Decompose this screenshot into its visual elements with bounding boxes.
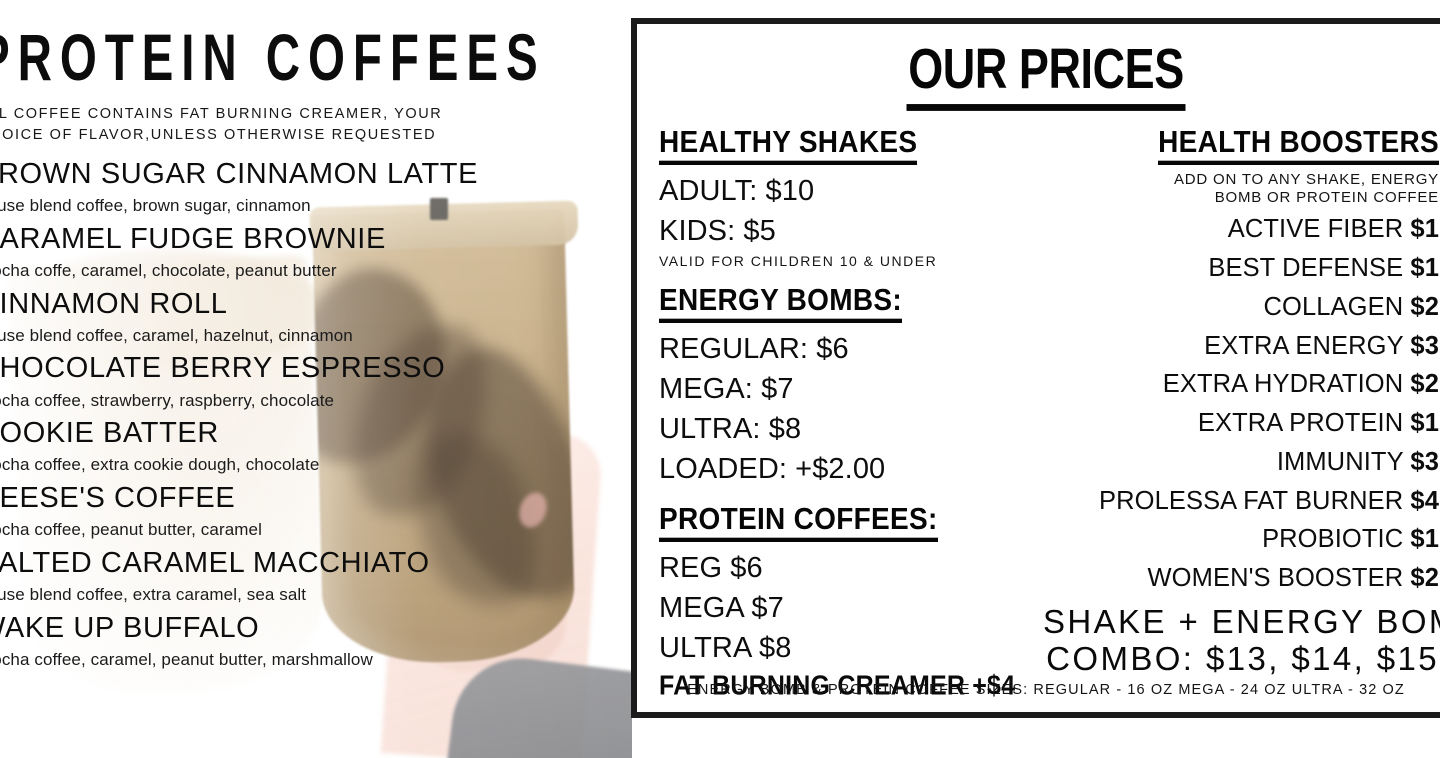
price-line-adult: ADULT: $10 [659, 171, 1043, 211]
price-line-eb-loaded: LOADED: +$2.00 [659, 449, 1043, 489]
coffee-name: CARAMEL FUDGE BROWNIE [0, 220, 632, 258]
booster-row: IMMUNITY $3 [1043, 443, 1439, 482]
coffee-description: house blend coffee, brown sugar, cinnamo… [0, 193, 632, 219]
price-line-eb-ultra: ULTRA: $8 [659, 409, 1043, 449]
list-item: COOKIE BATTER mocha coffee, extra cookie… [0, 414, 632, 478]
booster-name: BEST DEFENSE [1208, 254, 1403, 282]
list-item: WAKE UP BUFFALO mocha coffee, caramel, p… [0, 609, 632, 673]
page-subtitle: ALL COFFEE CONTAINS FAT BURNING CREAMER,… [0, 104, 632, 145]
booster-row: PROBIOTIC $1 [1043, 520, 1439, 559]
coffee-description: house blend coffee, caramel, hazelnut, c… [0, 323, 632, 349]
coffee-item-list: BROWN SUGAR CINNAMON LATTE house blend c… [0, 155, 632, 672]
health-boosters-subtitle-line-2: BOMB OR PROTEIN COFFEE [1215, 189, 1439, 206]
health-boosters-subtitle: ADD ON TO ANY SHAKE, ENERGY BOMB OR PROT… [1043, 171, 1439, 206]
list-item: SALTED CARAMEL MACCHIATO house blend cof… [0, 544, 632, 608]
protein-coffees-panel: PROTEIN COFFEES ALL COFFEE CONTAINS FAT … [0, 0, 632, 758]
health-boosters-subtitle-line-1: ADD ON TO ANY SHAKE, ENERGY [1174, 171, 1439, 188]
menu-page: PROTEIN COFFEES ALL COFFEE CONTAINS FAT … [0, 0, 1440, 758]
coffee-description: mocha coffee, peanut butter, caramel [0, 517, 632, 543]
combo-block: SHAKE + ENERGY BOMB COMBO: $13, $14, $15 [1043, 604, 1439, 678]
price-line-pc-mega: MEGA $7 [659, 588, 1043, 628]
booster-row: PROLESSA FAT BURNER $4 [1043, 482, 1439, 521]
booster-price: $1 [1410, 525, 1439, 553]
booster-name: EXTRA ENERGY [1204, 332, 1403, 360]
coffee-description: mocha coffe, caramel, chocolate, peanut … [0, 258, 632, 284]
coffee-description: house blend coffee, extra caramel, sea s… [0, 582, 632, 608]
kids-fineprint: VALID FOR CHILDREN 10 & UNDER [659, 252, 1043, 270]
booster-price: $4 [1410, 487, 1439, 515]
coffee-description: mocha coffee, strawberry, raspberry, cho… [0, 388, 632, 414]
price-line-eb-mega: MEGA: $7 [659, 369, 1043, 409]
coffee-name: SALTED CARAMEL MACCHIATO [0, 544, 632, 582]
health-boosters-heading: HEALTH BOOSTERS [1158, 125, 1439, 165]
booster-name: COLLAGEN [1264, 293, 1404, 321]
energy-bombs-heading-row: ENERGY BOMBS: [659, 286, 1043, 323]
list-item: CINNAMON ROLL house blend coffee, carame… [0, 285, 632, 349]
booster-name: PROBIOTIC [1262, 525, 1403, 553]
protein-coffees-text: PROTEIN COFFEES ALL COFFEE CONTAINS FAT … [0, 0, 632, 673]
price-line-pc-ultra: ULTRA $8 [659, 628, 1043, 668]
booster-price: $3 [1410, 448, 1439, 476]
page-title: PROTEIN COFFEES [0, 24, 453, 90]
booster-row: EXTRA ENERGY $3 [1043, 327, 1439, 366]
prices-title: OUR PRICES [678, 36, 1414, 107]
coffee-name: COOKIE BATTER [0, 414, 632, 452]
coffee-description: mocha coffee, extra cookie dough, chocol… [0, 452, 632, 478]
list-item: CARAMEL FUDGE BROWNIE mocha coffe, caram… [0, 220, 632, 284]
coffee-name: BROWN SUGAR CINNAMON LATTE [0, 155, 632, 193]
booster-name: WOMEN'S BOOSTER [1148, 564, 1404, 592]
protein-coffees-heading: PROTEIN COFFEES: [659, 502, 938, 542]
page-subtitle-line-2: CHOICE OF FLAVOR,UNLESS OTHERWISE REQUES… [0, 127, 436, 143]
coffee-description: mocha coffee, caramel, peanut butter, ma… [0, 647, 632, 673]
healthy-shakes-heading: HEALTHY SHAKES [659, 125, 917, 165]
sizes-note: ENERGY BOMB & PROTEIN COFFEE SIZES: REGU… [637, 682, 1440, 698]
prices-title-text: OUR PRICES [906, 37, 1185, 111]
energy-bombs-heading: ENERGY BOMBS: [659, 283, 902, 323]
coffee-name: REESE'S COFFEE [0, 479, 632, 517]
booster-price: $1 [1410, 254, 1439, 282]
combo-line-1: SHAKE + ENERGY BOMB [1043, 604, 1439, 641]
booster-name: EXTRA HYDRATION [1163, 370, 1403, 398]
page-subtitle-line-1: ALL COFFEE CONTAINS FAT BURNING CREAMER,… [0, 106, 442, 122]
booster-price: $1 [1410, 215, 1439, 243]
booster-price: $2 [1410, 370, 1439, 398]
booster-row: EXTRA PROTEIN $1 [1043, 404, 1439, 443]
booster-row: COLLAGEN $2 [1043, 288, 1439, 327]
coffee-name: WAKE UP BUFFALO [0, 609, 632, 647]
booster-row: ACTIVE FIBER $1 [1043, 210, 1439, 249]
booster-name: ACTIVE FIBER [1228, 215, 1403, 243]
prices-columns: HEALTHY SHAKES ADULT: $10 KIDS: $5 VALID… [637, 128, 1440, 701]
coffee-name: CHOCOLATE BERRY ESPRESSO [0, 349, 632, 387]
booster-name: IMMUNITY [1277, 448, 1403, 476]
price-line-eb-regular: REGULAR: $6 [659, 329, 1043, 369]
booster-row: EXTRA HYDRATION $2 [1043, 365, 1439, 404]
list-item: CHOCOLATE BERRY ESPRESSO mocha coffee, s… [0, 349, 632, 413]
prices-left-column: HEALTHY SHAKES ADULT: $10 KIDS: $5 VALID… [659, 128, 1043, 701]
prices-right-column: HEALTH BOOSTERS ADD ON TO ANY SHAKE, ENE… [1043, 128, 1439, 701]
booster-price: $2 [1410, 293, 1439, 321]
health-boosters-heading-row: HEALTH BOOSTERS [1043, 128, 1439, 165]
list-item: BROWN SUGAR CINNAMON LATTE house blend c… [0, 155, 632, 219]
booster-price: $3 [1410, 332, 1439, 360]
price-line-kids: KIDS: $5 [659, 211, 1043, 251]
booster-name: PROLESSA FAT BURNER [1099, 487, 1403, 515]
healthy-shakes-heading-row: HEALTHY SHAKES [659, 128, 1043, 165]
booster-price: $2 [1410, 564, 1439, 592]
booster-row: WOMEN'S BOOSTER $2 [1043, 559, 1439, 598]
booster-price: $1 [1410, 409, 1439, 437]
coffee-name: CINNAMON ROLL [0, 285, 632, 323]
combo-line-2: COMBO: $13, $14, $15 [1043, 641, 1439, 678]
booster-name: EXTRA PROTEIN [1198, 409, 1403, 437]
protein-coffees-heading-row: PROTEIN COFFEES: [659, 505, 1043, 542]
our-prices-panel: OUR PRICES HEALTHY SHAKES ADULT: $10 KID… [631, 18, 1440, 718]
booster-row: BEST DEFENSE $1 [1043, 249, 1439, 288]
price-line-pc-reg: REG $6 [659, 548, 1043, 588]
list-item: REESE'S COFFEE mocha coffee, peanut butt… [0, 479, 632, 543]
